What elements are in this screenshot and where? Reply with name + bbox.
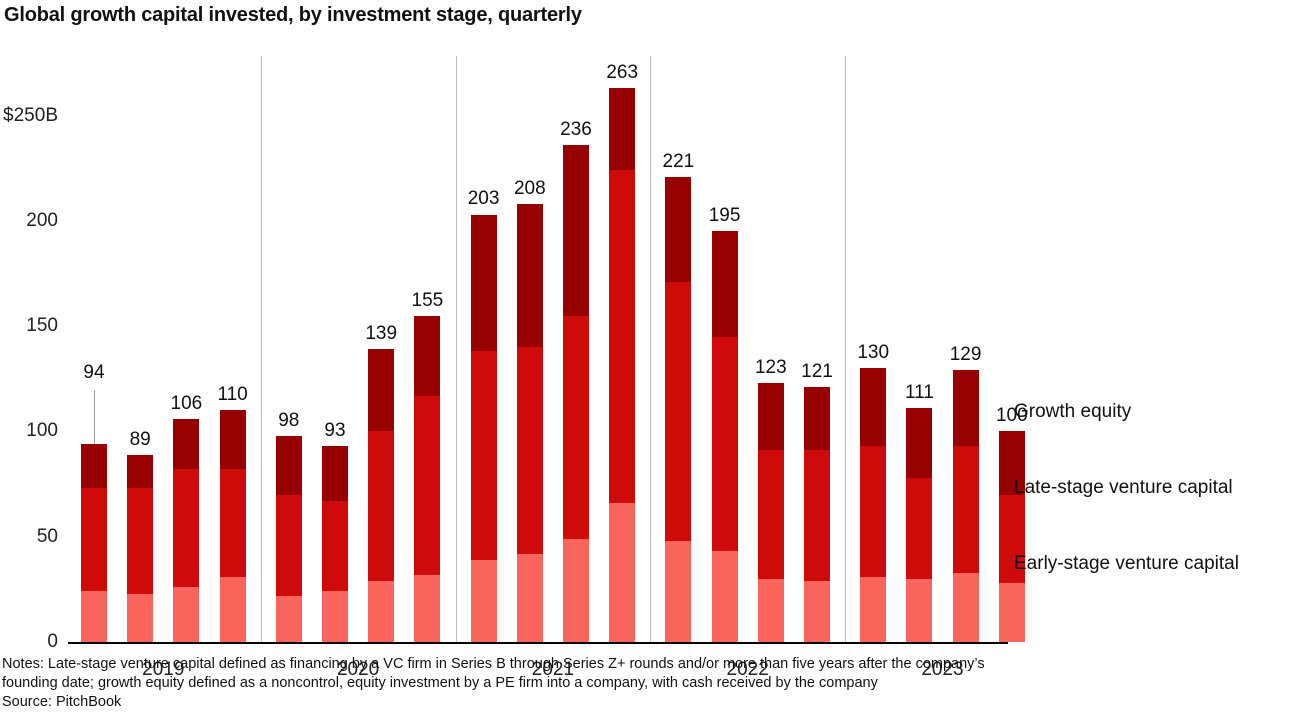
segment-early-stage-venture-capital — [953, 573, 979, 642]
bar-2022-q3[interactable] — [758, 383, 784, 642]
bar-value-label: 93 — [324, 420, 345, 442]
segment-growth-equity — [906, 408, 932, 477]
y-axis-tick-0: 0 — [47, 631, 58, 653]
bar-value-label: 106 — [171, 393, 203, 415]
bar-value-label: 110 — [217, 384, 247, 406]
segment-late-stage-venture-capital — [276, 495, 302, 596]
bar-2019-q1[interactable] — [81, 444, 107, 642]
source-line: Source: PitchBook — [2, 693, 1290, 712]
bar-2021-q4[interactable] — [609, 88, 635, 642]
segment-late-stage-venture-capital — [127, 488, 153, 593]
bar-2021-q2[interactable] — [517, 204, 543, 642]
bar-2023-q4[interactable] — [999, 431, 1025, 642]
bar-value-label: 221 — [663, 151, 695, 173]
y-axis-tick-200: 200 — [26, 210, 58, 232]
segment-late-stage-venture-capital — [609, 170, 635, 503]
page-title: Global growth capital invested, by inves… — [4, 4, 582, 27]
segment-growth-equity — [173, 419, 199, 470]
segment-early-stage-venture-capital — [906, 579, 932, 642]
label-leader-line — [94, 390, 95, 444]
bar-value-label: 111 — [905, 382, 934, 404]
bar-value-label: 139 — [365, 323, 397, 345]
segment-early-stage-venture-capital — [173, 587, 199, 642]
segment-growth-equity — [712, 231, 738, 336]
segment-early-stage-venture-capital — [804, 581, 830, 642]
y-axis-tick-150: 150 — [26, 315, 58, 337]
bar-value-label: 263 — [606, 62, 638, 84]
segment-growth-equity — [804, 387, 830, 450]
year-separator-2020 — [261, 56, 262, 644]
segment-late-stage-venture-capital — [860, 446, 886, 577]
segment-early-stage-venture-capital — [517, 554, 543, 642]
segment-growth-equity — [276, 436, 302, 495]
segment-early-stage-venture-capital — [665, 541, 691, 642]
segment-early-stage-venture-capital — [609, 503, 635, 642]
segment-growth-equity — [414, 316, 440, 396]
bar-value-label: 130 — [857, 342, 889, 364]
bar-value-label: 89 — [130, 429, 151, 451]
legend-item-late-stage-venture-capital[interactable]: Late-stage venture capital — [1014, 477, 1233, 499]
segment-growth-equity — [471, 215, 497, 352]
segment-early-stage-venture-capital — [471, 560, 497, 642]
segment-late-stage-venture-capital — [414, 396, 440, 575]
segment-early-stage-venture-capital — [276, 596, 302, 642]
bar-2020-q2[interactable] — [322, 446, 348, 642]
bar-2022-q1[interactable] — [665, 177, 691, 642]
segment-early-stage-venture-capital — [860, 577, 886, 642]
legend-item-early-stage-venture-capital[interactable]: Early-stage venture capital — [1014, 553, 1239, 575]
notes-line-1: Notes: Late-stage venture capital define… — [2, 655, 1290, 674]
bar-2020-q1[interactable] — [276, 436, 302, 642]
segment-growth-equity — [220, 410, 246, 469]
segment-growth-equity — [758, 383, 784, 450]
year-separator-2023 — [845, 56, 846, 644]
segment-late-stage-venture-capital — [953, 446, 979, 572]
bar-2021-q3[interactable] — [563, 145, 589, 642]
segment-growth-equity — [322, 446, 348, 501]
segment-growth-equity — [860, 368, 886, 446]
bar-value-label: 203 — [468, 188, 500, 210]
segment-late-stage-venture-capital — [563, 316, 589, 539]
segment-growth-equity — [665, 177, 691, 282]
segment-late-stage-venture-capital — [665, 282, 691, 541]
y-axis-tick-100: 100 — [26, 420, 58, 442]
segment-late-stage-venture-capital — [81, 488, 107, 591]
bar-2023-q1[interactable] — [860, 368, 886, 642]
bar-value-label: 121 — [801, 361, 833, 383]
segment-early-stage-venture-capital — [81, 591, 107, 642]
segment-growth-equity — [563, 145, 589, 316]
year-separator-2022 — [650, 56, 651, 644]
segment-late-stage-venture-capital — [471, 351, 497, 559]
bar-2020-q4[interactable] — [414, 316, 440, 642]
segment-early-stage-venture-capital — [712, 551, 738, 642]
bar-2023-q3[interactable] — [953, 370, 979, 642]
segment-late-stage-venture-capital — [906, 478, 932, 579]
bar-2019-q2[interactable] — [127, 455, 153, 642]
segment-early-stage-venture-capital — [322, 591, 348, 642]
segment-late-stage-venture-capital — [758, 450, 784, 578]
y-axis-tick-250: $250B — [3, 105, 58, 127]
bar-2022-q2[interactable] — [712, 231, 738, 642]
segment-late-stage-venture-capital — [368, 431, 394, 581]
segment-late-stage-venture-capital — [804, 450, 830, 581]
bar-2023-q2[interactable] — [906, 408, 932, 642]
segment-growth-equity — [368, 349, 394, 431]
segment-late-stage-venture-capital — [220, 469, 246, 576]
bar-2019-q4[interactable] — [220, 410, 246, 642]
segment-late-stage-venture-capital — [173, 469, 199, 587]
segment-early-stage-venture-capital — [758, 579, 784, 642]
bar-2021-q1[interactable] — [471, 215, 497, 642]
bar-value-label: 236 — [560, 119, 592, 141]
bar-2019-q3[interactable] — [173, 419, 199, 642]
segment-late-stage-venture-capital — [517, 347, 543, 553]
bar-value-label: 94 — [83, 362, 104, 384]
segment-late-stage-venture-capital — [712, 337, 738, 552]
segment-growth-equity — [953, 370, 979, 446]
year-separator-2021 — [456, 56, 457, 644]
segment-growth-equity — [517, 204, 543, 347]
y-axis-tick-50: 50 — [37, 526, 58, 548]
segment-early-stage-venture-capital — [414, 575, 440, 642]
segment-early-stage-venture-capital — [220, 577, 246, 642]
bar-value-label: 129 — [950, 344, 982, 366]
bar-value-label: 98 — [278, 410, 299, 432]
bar-value-label: 195 — [709, 205, 741, 227]
chart-footnotes: Notes: Late-stage venture capital define… — [2, 655, 1290, 712]
bar-value-label: 155 — [412, 290, 444, 312]
segment-early-stage-venture-capital — [127, 594, 153, 642]
chart-plot-area: 050100150200$250B 9489106110989313915520… — [68, 56, 1008, 586]
legend-item-growth-equity[interactable]: Growth equity — [1014, 401, 1131, 423]
segment-growth-equity — [81, 444, 107, 488]
segment-early-stage-venture-capital — [368, 581, 394, 642]
x-axis-baseline — [68, 642, 1008, 644]
notes-line-2: founding date; growth equity defined as … — [2, 674, 1290, 693]
bar-2022-q4[interactable] — [804, 387, 830, 642]
segment-growth-equity — [609, 88, 635, 170]
segment-late-stage-venture-capital — [322, 501, 348, 592]
bar-value-label: 123 — [755, 357, 787, 379]
segment-early-stage-venture-capital — [999, 583, 1025, 642]
bar-2020-q3[interactable] — [368, 349, 394, 642]
bar-value-label: 208 — [514, 178, 546, 200]
segment-growth-equity — [127, 455, 153, 489]
segment-early-stage-venture-capital — [563, 539, 589, 642]
